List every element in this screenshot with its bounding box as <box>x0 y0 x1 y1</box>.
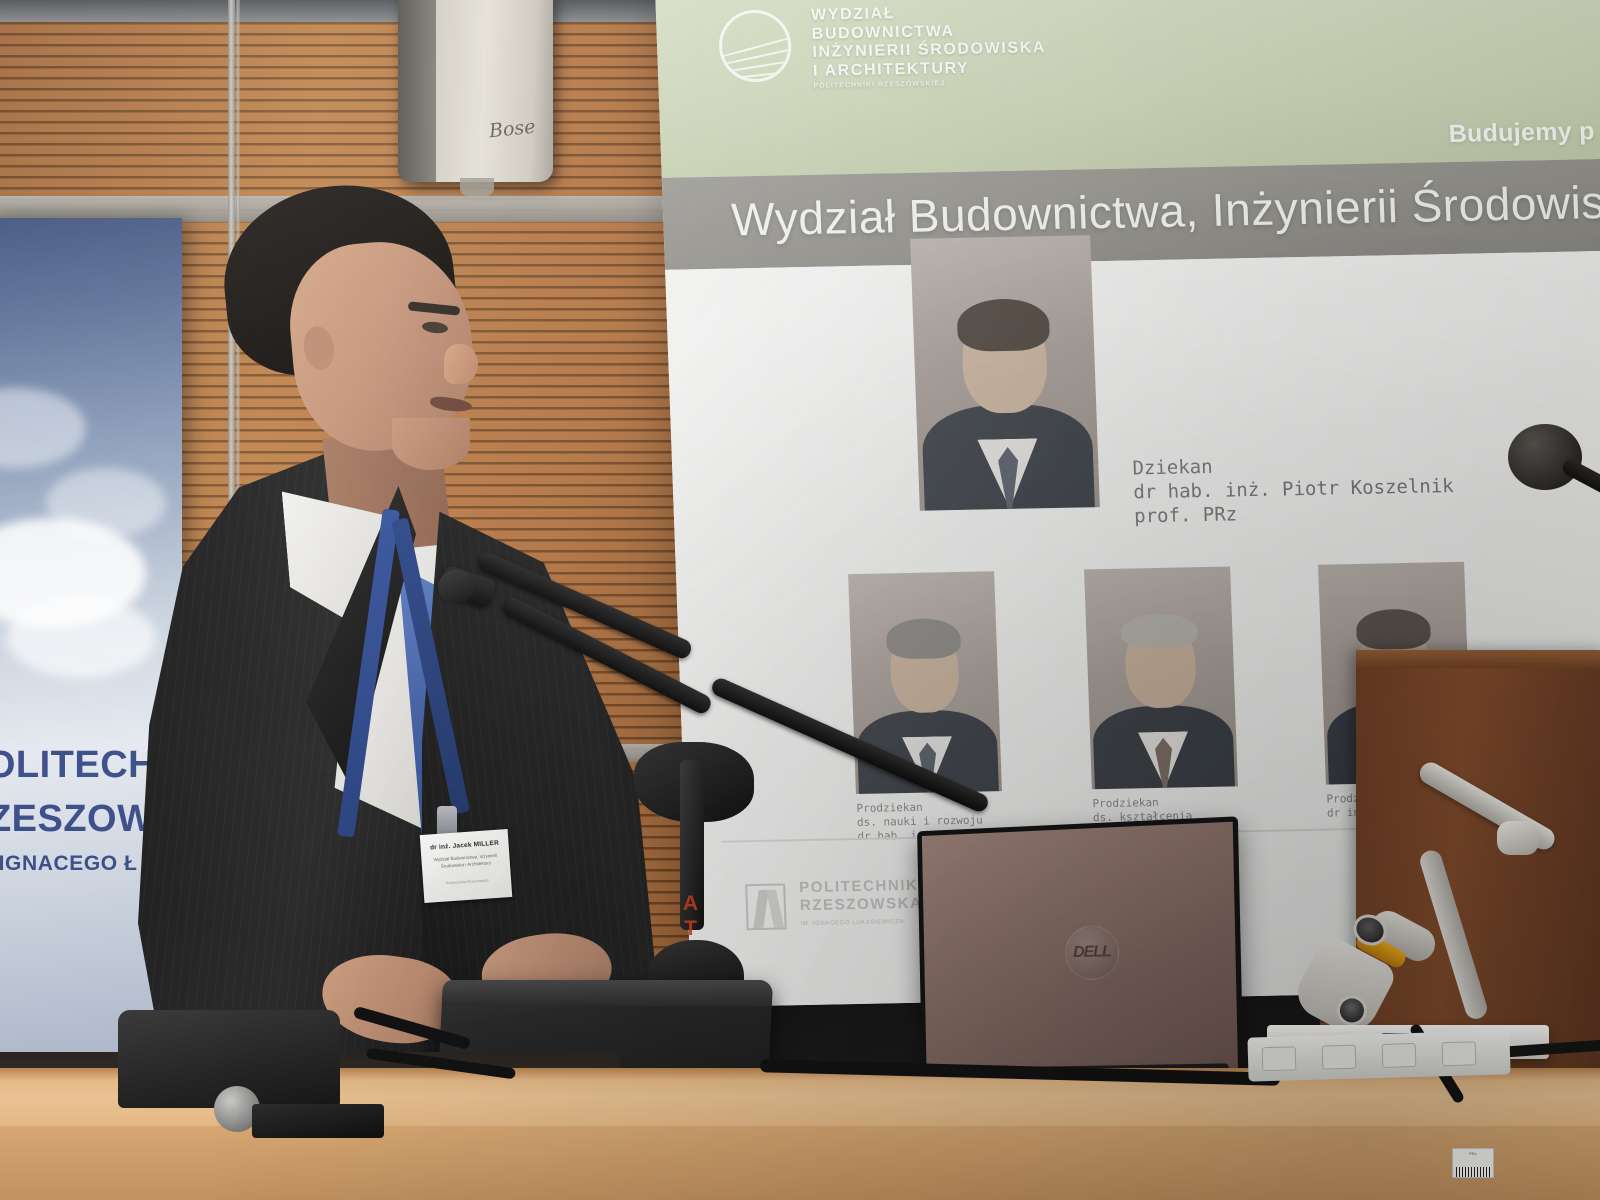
badge-name: dr inż. Jacek MILLER <box>426 839 502 851</box>
desk-front-panel <box>0 1126 1600 1200</box>
dean-name: dr hab. inż. Piotr Koszelnik <box>1133 475 1454 503</box>
ceiling-strip <box>0 0 760 22</box>
lecture-hall-photograph: Bose WYDZIAŁ BUDOWNICTWA INŻYNIERII ŚROD… <box>0 0 1600 1200</box>
power-socket-2[interactable] <box>1322 1045 1357 1070</box>
chin <box>392 418 470 470</box>
vd1-role: Prodziekan <box>856 801 923 815</box>
dean-titles: prof. PRz <box>1134 503 1238 527</box>
microphone-capsule <box>438 570 474 604</box>
power-socket-1[interactable] <box>1262 1046 1297 1071</box>
nose <box>444 344 478 384</box>
doccam-elbow-joint[interactable] <box>1497 821 1539 855</box>
speaker-front-edge <box>398 0 436 182</box>
power-socket-4[interactable] <box>1442 1041 1477 1066</box>
sticker-label: PRz <box>1469 1152 1476 1156</box>
wbisia-circle-logo-icon <box>718 9 793 82</box>
laptop-lid: DELL <box>917 816 1243 1083</box>
pr-logo-mark-icon <box>745 883 787 930</box>
speaker-brand-logo: Bose <box>488 116 536 143</box>
slide-header-band: WYDZIAŁ BUDOWNICTWA INŻYNIERII ŚRODOWISK… <box>655 0 1600 178</box>
slide-tagline: Budujemy p <box>1448 117 1595 149</box>
presenter: dr inż. Jacek MILLER Wydział Budownictwa… <box>92 186 612 1106</box>
name-badge: dr inż. Jacek MILLER Wydział Budownictwa… <box>420 829 513 903</box>
lectern-microphone <box>1508 424 1582 490</box>
cable-connector-block <box>252 1104 384 1138</box>
dean-role: Dziekan <box>1132 456 1213 480</box>
power-strip[interactable] <box>1247 1030 1510 1081</box>
slide-logo-text: WYDZIAŁ BUDOWNICTWA INŻYNIERII ŚRODOWISK… <box>811 2 1048 93</box>
vd2-role: Prodziekan <box>1092 796 1159 810</box>
conference-unit-top-panel[interactable] <box>442 980 773 1006</box>
dean-portrait <box>910 235 1100 510</box>
dell-logo-icon: DELL <box>1065 925 1120 980</box>
barcode-icon <box>1456 1167 1490 1177</box>
dean-caption: Dziekan dr hab. inż. Piotr Koszelnik pro… <box>1132 450 1455 528</box>
power-socket-3[interactable] <box>1382 1043 1417 1068</box>
vice-dean-portrait-2 <box>1084 567 1238 790</box>
ceiling-speaker: Bose <box>398 0 553 182</box>
badge-footer: Politechnika Rzeszowska <box>429 877 505 886</box>
inventory-barcode-sticker: PRz <box>1452 1148 1494 1178</box>
presenter-laptop[interactable]: DELL <box>905 820 1255 1100</box>
slide-title: Wydział Budownictwa, Inżynierii Środowis… <box>730 173 1600 247</box>
badge-org: Wydział Budownictwa, Inżynierii Środowis… <box>427 852 504 870</box>
lectern-top-edge <box>1356 650 1600 668</box>
